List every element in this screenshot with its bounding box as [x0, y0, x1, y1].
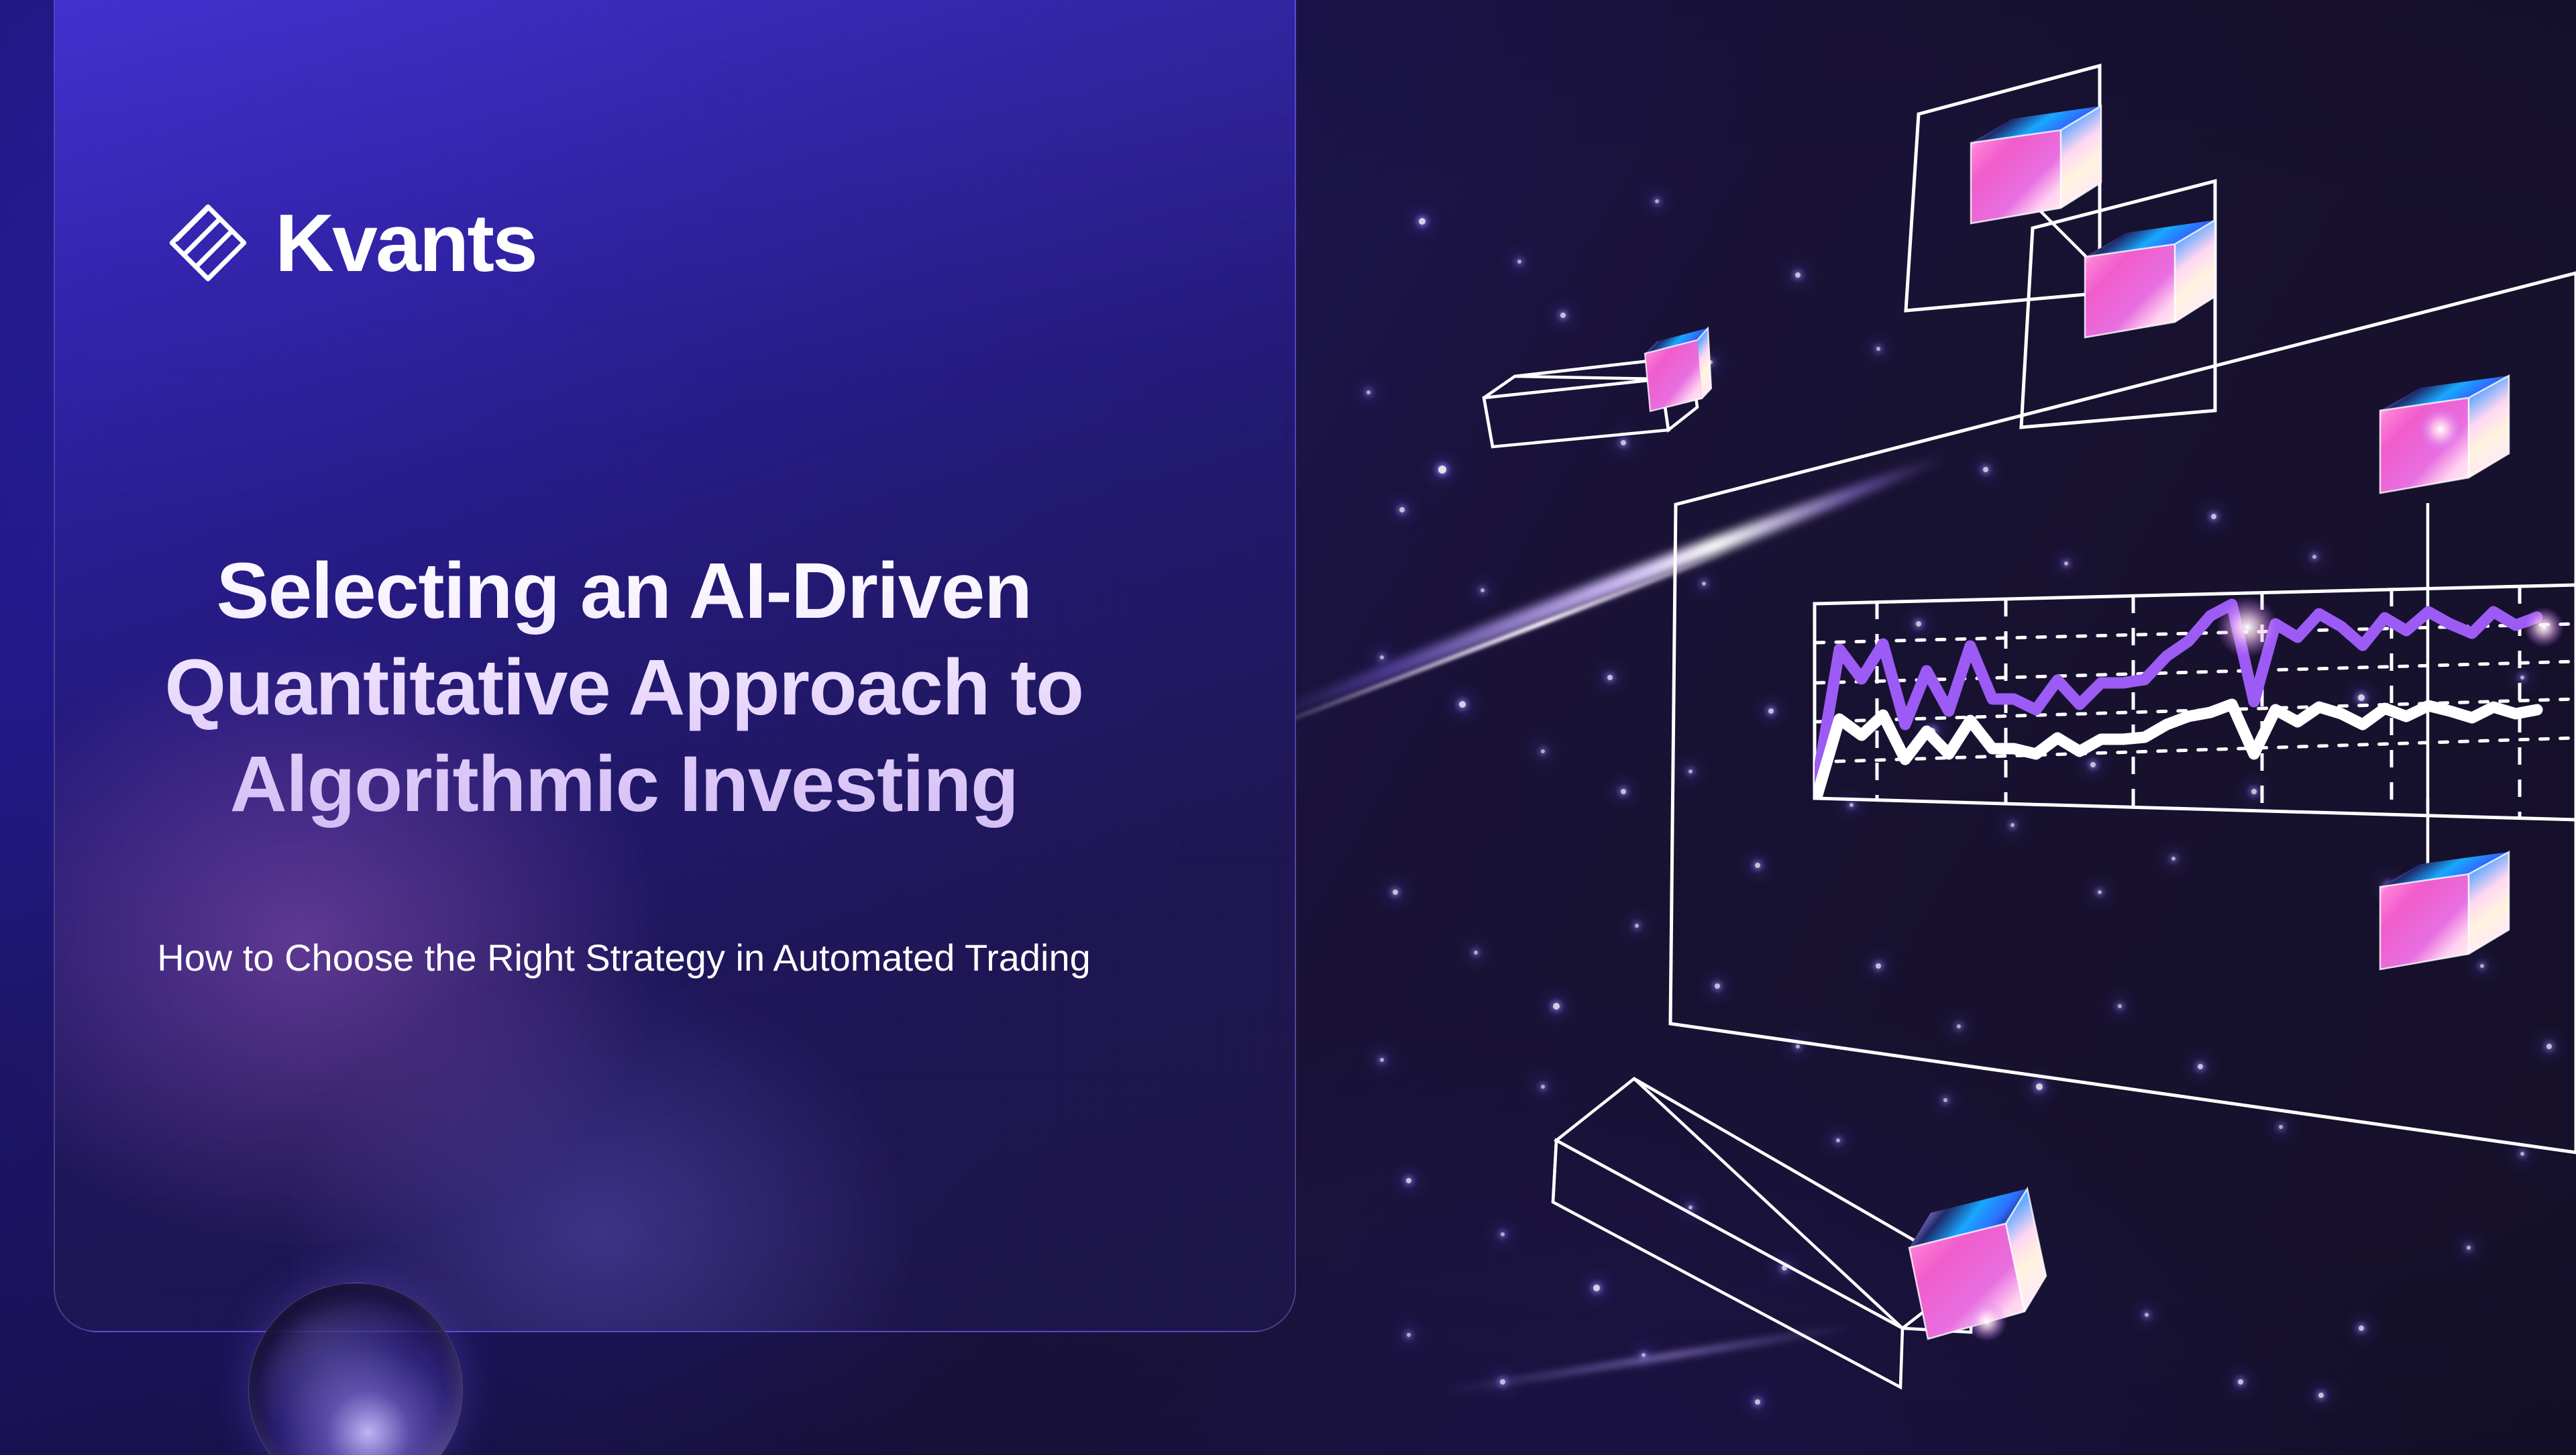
star: [1916, 621, 1921, 627]
star: [1501, 1232, 1505, 1236]
star: [2279, 1125, 2283, 1129]
star: [1560, 313, 1566, 318]
star: [2118, 1004, 2122, 1008]
star: [2480, 964, 2484, 968]
star: [1541, 1085, 1545, 1089]
star: [1635, 924, 1639, 928]
star: [1474, 951, 1478, 955]
star: [1399, 507, 1405, 513]
star: [2090, 762, 2096, 767]
star: [1849, 803, 1854, 807]
star: [2211, 514, 2216, 519]
star: [1983, 467, 1988, 472]
star: [2198, 1064, 2203, 1069]
star: [1943, 1098, 1947, 1102]
star: [2406, 427, 2411, 432]
star: [1459, 701, 1466, 708]
star: [2098, 890, 2102, 894]
brand-logo[interactable]: Kvants: [166, 201, 536, 284]
star: [1438, 466, 1446, 474]
star: [2520, 1152, 2524, 1156]
star: [1553, 1003, 1560, 1010]
star: [2318, 1393, 2324, 1398]
star: [1715, 983, 1720, 989]
star: [1688, 769, 1693, 773]
star: [1407, 1333, 1411, 1337]
star: [1380, 655, 1384, 659]
star: [1607, 675, 1613, 680]
star: [1688, 1205, 1693, 1209]
star: [2385, 883, 2391, 888]
star: [1593, 1285, 1600, 1291]
star: [1795, 272, 1801, 278]
star: [1836, 1138, 1840, 1142]
star: [2467, 1246, 2471, 1250]
star: [1796, 1044, 1800, 1048]
star: [2036, 1083, 2043, 1090]
star: [1929, 728, 1935, 735]
star: [2358, 694, 2365, 701]
star: [2171, 857, 2176, 861]
star: [1876, 347, 1880, 351]
page-title: Selecting an AI-Driven Quantitative Appr…: [94, 543, 1154, 833]
star: [1755, 1399, 1760, 1405]
star: [1419, 218, 1426, 225]
star: [2312, 555, 2316, 559]
star: [1755, 863, 1760, 868]
page-subtitle: How to Choose the Right Strategy in Auto…: [134, 932, 1114, 983]
star: [2251, 789, 2257, 794]
star: [1517, 260, 1521, 264]
brand-name: Kvants: [275, 202, 536, 284]
star: [1380, 1058, 1384, 1062]
star: [1621, 789, 1626, 794]
star: [2238, 1379, 2243, 1385]
star: [2064, 561, 2068, 565]
star: [2546, 1044, 2552, 1049]
star: [2145, 1313, 2149, 1317]
star: [1782, 1265, 1787, 1271]
star: [1406, 1178, 1411, 1183]
star: [1366, 390, 1371, 394]
kvants-diamond-logo-icon: [166, 201, 250, 284]
hero-banner: Kvants Selecting an AI-Driven Quantitati…: [0, 0, 2576, 1455]
star: [1481, 588, 1485, 592]
star: [1702, 582, 1706, 586]
star: [2359, 1326, 2364, 1331]
star: [1876, 963, 1881, 969]
star: [1541, 749, 1545, 753]
star: [1655, 199, 1659, 203]
star: [1393, 890, 1398, 895]
star: [2010, 823, 2015, 827]
star: [1709, 360, 1713, 364]
star: [2520, 676, 2524, 680]
star: [1957, 1024, 1961, 1028]
star: [1768, 708, 1774, 714]
star: [1621, 440, 1626, 445]
